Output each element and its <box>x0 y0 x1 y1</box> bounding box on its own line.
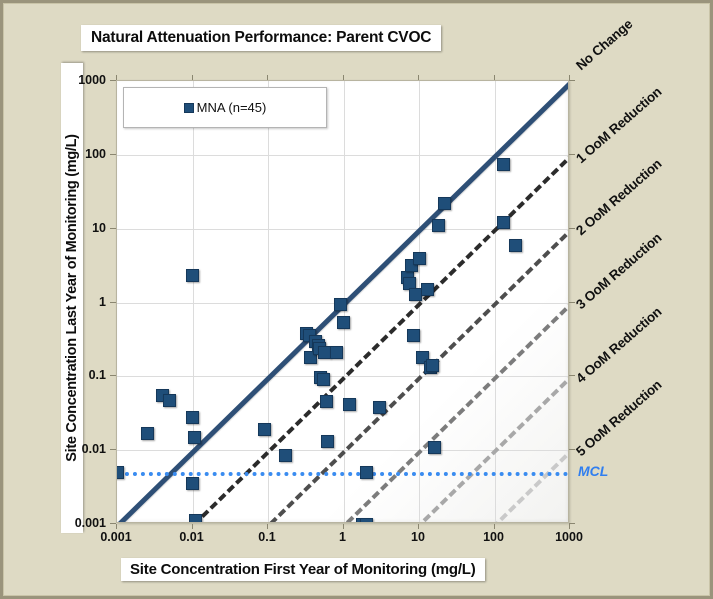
data-point <box>373 401 386 414</box>
data-point <box>497 216 510 229</box>
gridline-horizontal <box>117 155 568 156</box>
y-axis-tick <box>110 80 116 81</box>
data-point <box>163 394 176 407</box>
legend-label-mna: MNA (n=45) <box>197 100 267 115</box>
data-point <box>360 518 373 524</box>
y-axis-tick <box>110 375 116 376</box>
data-point <box>337 316 350 329</box>
x-axis-tick <box>494 524 495 529</box>
x-axis-tick-label: 1 <box>339 530 346 544</box>
data-point <box>421 283 434 296</box>
y-axis-tick-right <box>569 523 575 524</box>
data-point <box>321 435 334 448</box>
y-axis-tick <box>110 154 116 155</box>
annotation-2-oom-reduction: 2 OoM Reduction <box>573 156 664 238</box>
gridline-vertical <box>268 81 269 522</box>
x-axis-tick-label: 0.01 <box>179 530 203 544</box>
data-point <box>428 441 441 454</box>
x-axis-tick <box>418 524 419 529</box>
reference-line-3-oom <box>116 148 569 523</box>
y-axis-tick-label: 1 <box>3 295 106 309</box>
data-point <box>141 427 154 440</box>
data-point <box>186 411 199 424</box>
gridline-vertical <box>193 81 194 522</box>
x-axis-tick-label: 100 <box>483 530 504 544</box>
chart-frame: Natural Attenuation Performance: Parent … <box>0 0 713 599</box>
annotation-5-oom-reduction: 5 OoM Reduction <box>573 377 664 459</box>
x-axis-tick-label: 0.1 <box>258 530 275 544</box>
chart-legend: MNA (n=45) <box>123 87 327 128</box>
x-axis-tick-top <box>418 75 419 80</box>
y-axis-tick-label: 0.1 <box>3 368 106 382</box>
x-axis-tick-top <box>192 75 193 80</box>
x-axis-tick <box>343 524 344 529</box>
y-axis-tick-label: 1000 <box>3 73 106 87</box>
annotation-mcl: MCL <box>578 463 608 479</box>
data-point <box>330 346 343 359</box>
page-title: Natural Attenuation Performance: Parent … <box>81 25 441 51</box>
x-axis-tick-top <box>267 75 268 80</box>
data-point <box>409 288 422 301</box>
data-point <box>426 359 439 372</box>
data-point <box>438 197 451 210</box>
y-axis-tick-label: 0.01 <box>3 442 106 456</box>
x-axis-tick-label: 10 <box>411 530 425 544</box>
x-axis-tick-label: 0.001 <box>100 530 131 544</box>
data-point <box>343 398 356 411</box>
y-axis-tick-label: 10 <box>3 221 106 235</box>
annotation-4-oom-reduction: 4 OoM Reduction <box>573 304 664 386</box>
y-axis-tick-right <box>569 80 575 81</box>
y-axis-tick-label: 0.001 <box>3 516 106 530</box>
data-point <box>279 449 292 462</box>
data-point <box>407 329 420 342</box>
data-point <box>334 298 347 311</box>
x-axis-title: Site Concentration First Year of Monitor… <box>121 558 485 581</box>
data-point <box>189 514 202 523</box>
x-axis-tick-top <box>116 75 117 80</box>
legend-swatch-mna <box>184 103 194 113</box>
mcl-threshold-line <box>117 472 568 476</box>
data-point <box>317 373 330 386</box>
annotation-3-oom-reduction: 3 OoM Reduction <box>573 230 664 312</box>
y-axis-tick <box>110 228 116 229</box>
data-point <box>186 477 199 490</box>
data-point <box>413 252 426 265</box>
y-axis-tick <box>110 302 116 303</box>
data-point <box>188 431 201 444</box>
x-axis-tick <box>569 524 570 529</box>
x-axis-tick <box>116 524 117 529</box>
y-axis-tick-label: 100 <box>3 147 106 161</box>
data-point <box>497 158 510 171</box>
x-axis-tick <box>192 524 193 529</box>
data-point <box>432 219 445 232</box>
data-point <box>116 466 124 479</box>
data-point <box>509 239 522 252</box>
annotation-no-change: No Change <box>573 16 635 73</box>
data-point <box>320 395 333 408</box>
annotation-1-oom-reduction: 1 OoM Reduction <box>573 84 664 166</box>
x-axis-tick-top <box>494 75 495 80</box>
x-axis-tick-label: 1000 <box>555 530 583 544</box>
x-axis-tick <box>267 524 268 529</box>
data-point <box>186 269 199 282</box>
x-axis-tick-top <box>343 75 344 80</box>
y-axis-tick <box>110 523 116 524</box>
data-point <box>360 466 373 479</box>
plot-area <box>116 80 569 523</box>
data-point <box>258 423 271 436</box>
y-axis-tick <box>110 449 116 450</box>
